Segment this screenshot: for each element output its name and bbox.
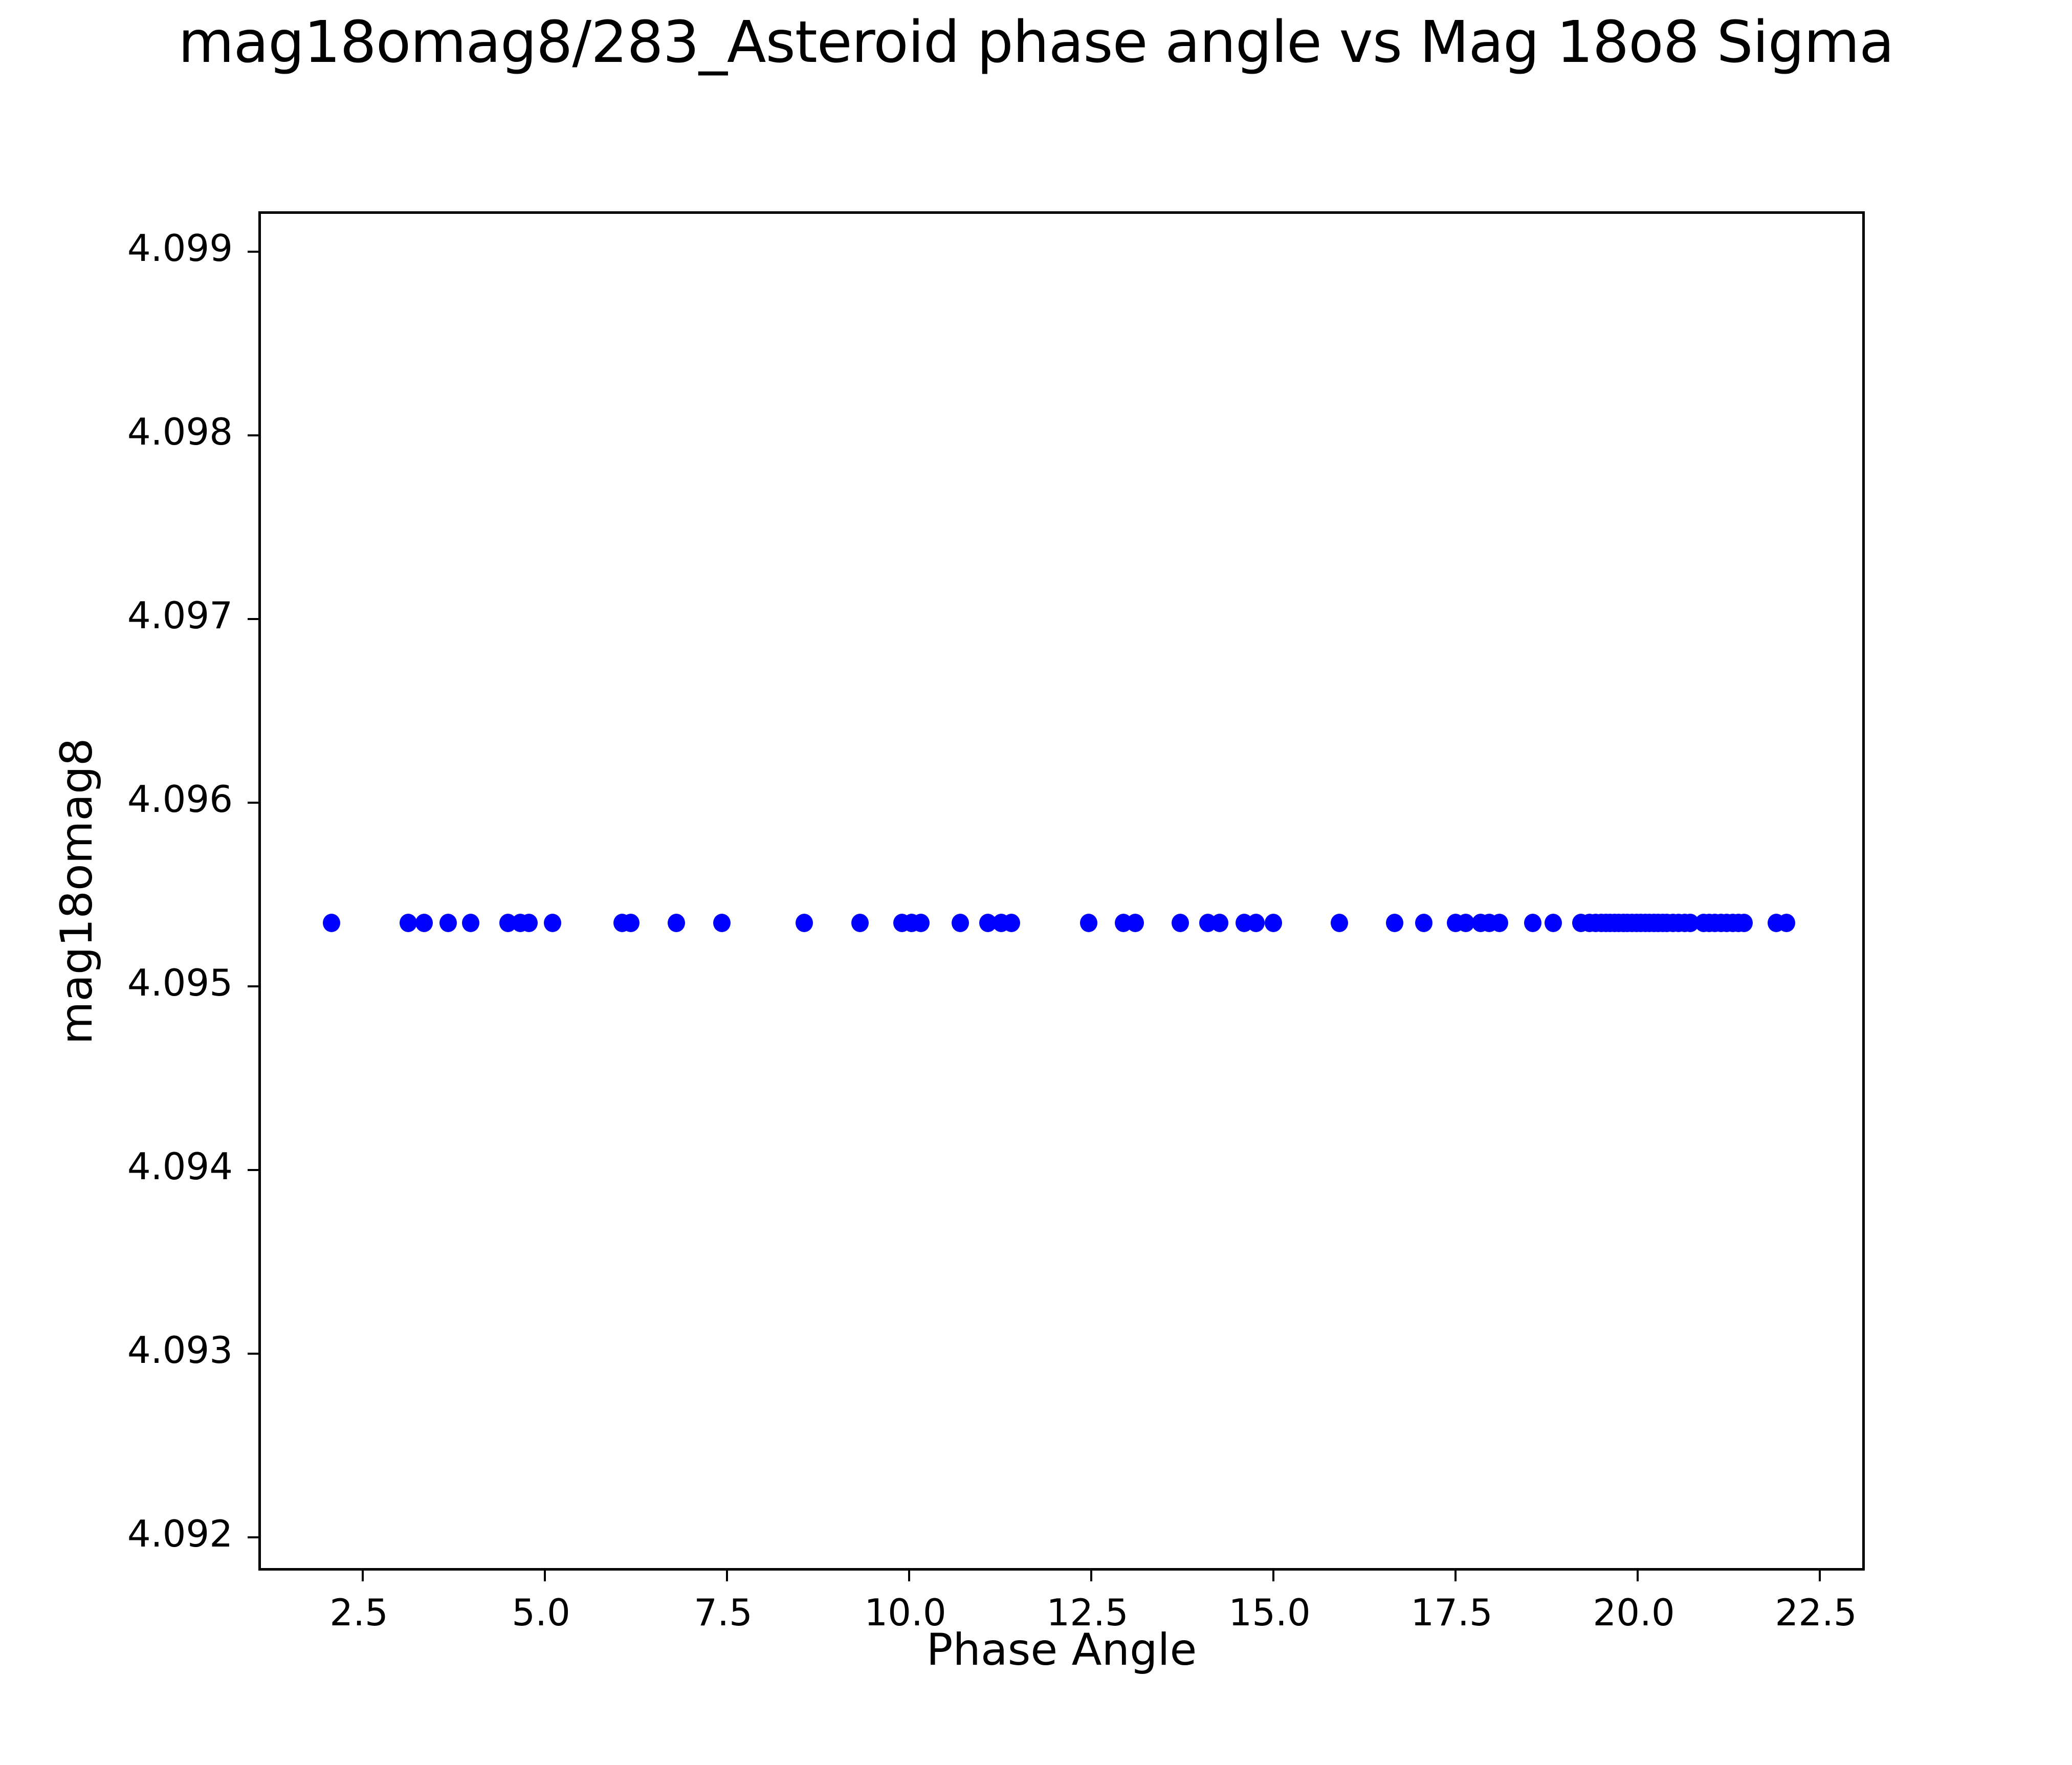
x-axis-label: Phase Angle	[258, 1624, 1865, 1675]
plot-area	[261, 214, 1862, 1568]
data-point	[1211, 914, 1228, 932]
y-axis-tick-mark	[248, 985, 261, 987]
data-point	[796, 914, 813, 932]
y-axis-tick-mark	[248, 434, 261, 436]
data-point	[1331, 914, 1348, 932]
y-axis-tick-label: 4.092	[0, 1512, 233, 1555]
data-point	[912, 914, 930, 932]
data-point	[462, 914, 479, 932]
x-axis-tick-mark	[1819, 1568, 1821, 1581]
data-point	[1386, 914, 1403, 932]
data-point	[1524, 914, 1541, 932]
data-point	[1545, 914, 1562, 932]
x-axis-tick-mark	[544, 1568, 546, 1581]
data-point	[713, 914, 731, 932]
data-point	[952, 914, 969, 932]
data-point	[622, 914, 640, 932]
data-point	[668, 914, 685, 932]
scatter-plot-figure: mag18omag8/283_Asteroid phase angle vs M…	[0, 0, 2072, 1765]
data-point	[520, 914, 538, 932]
data-point	[544, 914, 561, 932]
y-axis-tick-mark	[248, 1353, 261, 1355]
data-point	[323, 914, 340, 932]
data-point	[1080, 914, 1097, 932]
y-axis-tick-mark	[248, 1536, 261, 1538]
data-point	[1247, 914, 1265, 932]
data-point	[1265, 914, 1282, 932]
chart-title: mag18omag8/283_Asteroid phase angle vs M…	[0, 9, 2072, 76]
data-point	[415, 914, 433, 932]
y-axis-tick-mark	[248, 1169, 261, 1171]
y-axis-tick-label: 4.094	[0, 1145, 233, 1188]
y-axis-label: mag18omag8	[51, 738, 102, 1044]
data-point	[439, 914, 457, 932]
data-point	[1491, 914, 1508, 932]
x-axis-tick-mark	[726, 1568, 728, 1581]
x-axis-tick-mark	[908, 1568, 910, 1581]
data-point	[1415, 914, 1432, 932]
y-axis-tick-label: 4.098	[0, 410, 233, 453]
x-axis-tick-mark	[1090, 1568, 1092, 1581]
data-point	[1172, 914, 1189, 932]
y-axis-tick-label: 4.099	[0, 227, 233, 270]
data-point	[1778, 914, 1795, 932]
y-axis-tick-label: 4.095	[0, 961, 233, 1004]
x-axis-tick-mark	[1272, 1568, 1274, 1581]
data-point	[1735, 914, 1753, 932]
y-axis-tick-label: 4.097	[0, 594, 233, 637]
x-axis-tick-mark	[1454, 1568, 1457, 1581]
y-axis-tick-mark	[248, 618, 261, 620]
x-axis-tick-mark	[362, 1568, 364, 1581]
data-point	[1003, 914, 1020, 932]
y-axis-tick-mark	[248, 802, 261, 804]
data-point	[400, 914, 417, 932]
y-axis-tick-label: 4.096	[0, 778, 233, 821]
x-axis-tick-mark	[1637, 1568, 1639, 1581]
y-axis-tick-mark	[248, 251, 261, 253]
data-point	[851, 914, 869, 932]
data-point	[1127, 914, 1144, 932]
plot-axes	[258, 211, 1865, 1571]
y-axis-tick-label: 4.093	[0, 1329, 233, 1372]
